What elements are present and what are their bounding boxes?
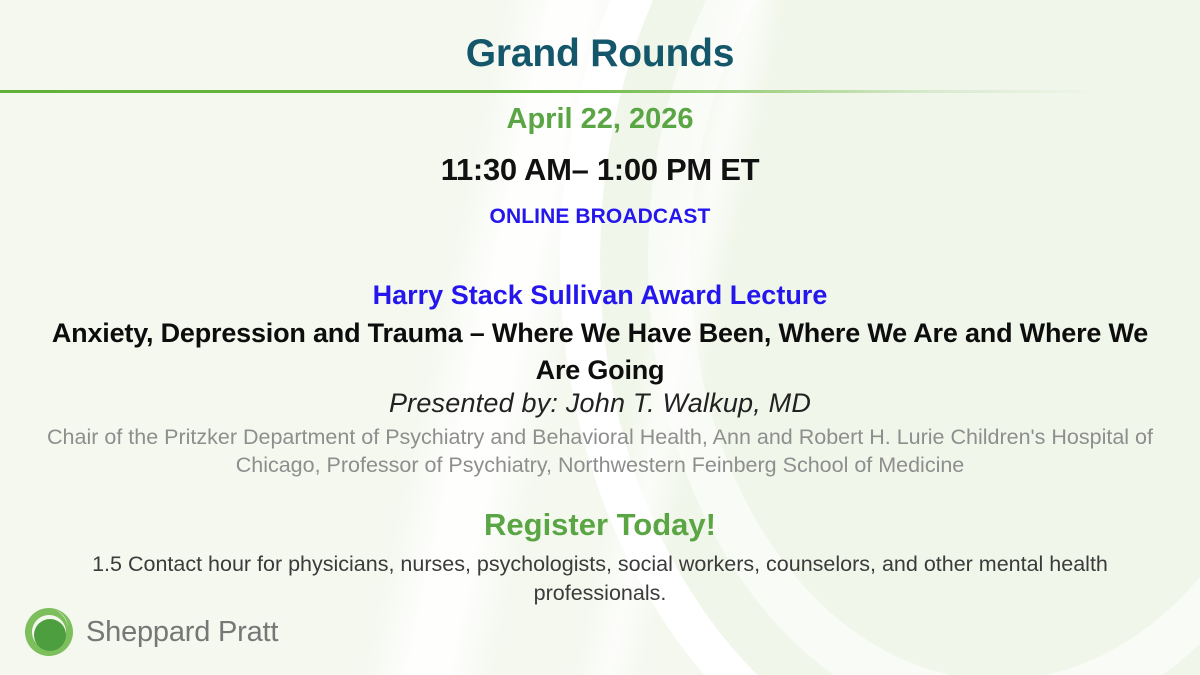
presenter-affiliation: Chair of the Pritzker Department of Psyc… bbox=[40, 423, 1160, 479]
logo-wordmark: Sheppard Pratt bbox=[86, 616, 278, 649]
continuing-education-credit: 1.5 Contact hour for physicians, nurses,… bbox=[80, 550, 1120, 608]
award-lecture-name: Harry Stack Sullivan Award Lecture bbox=[0, 280, 1200, 311]
broadcast-format-label: ONLINE BROADCAST bbox=[0, 205, 1200, 229]
sheppard-pratt-circle-icon bbox=[22, 605, 76, 659]
event-date: April 22, 2026 bbox=[0, 103, 1200, 136]
event-time: 11:30 AM– 1:00 PM ET bbox=[0, 152, 1200, 188]
lecture-title: Anxiety, Depression and Trauma – Where W… bbox=[30, 315, 1170, 389]
register-cta[interactable]: Register Today! bbox=[0, 507, 1200, 543]
page-title: Grand Rounds bbox=[0, 32, 1200, 76]
presentation-slide: Grand Rounds April 22, 2026 11:30 AM– 1:… bbox=[0, 0, 1200, 675]
slide-content: Grand Rounds April 22, 2026 11:30 AM– 1:… bbox=[0, 0, 1200, 675]
sheppard-pratt-logo: Sheppard Pratt bbox=[22, 605, 278, 659]
presenter-name: Presented by: John T. Walkup, MD bbox=[0, 388, 1200, 419]
